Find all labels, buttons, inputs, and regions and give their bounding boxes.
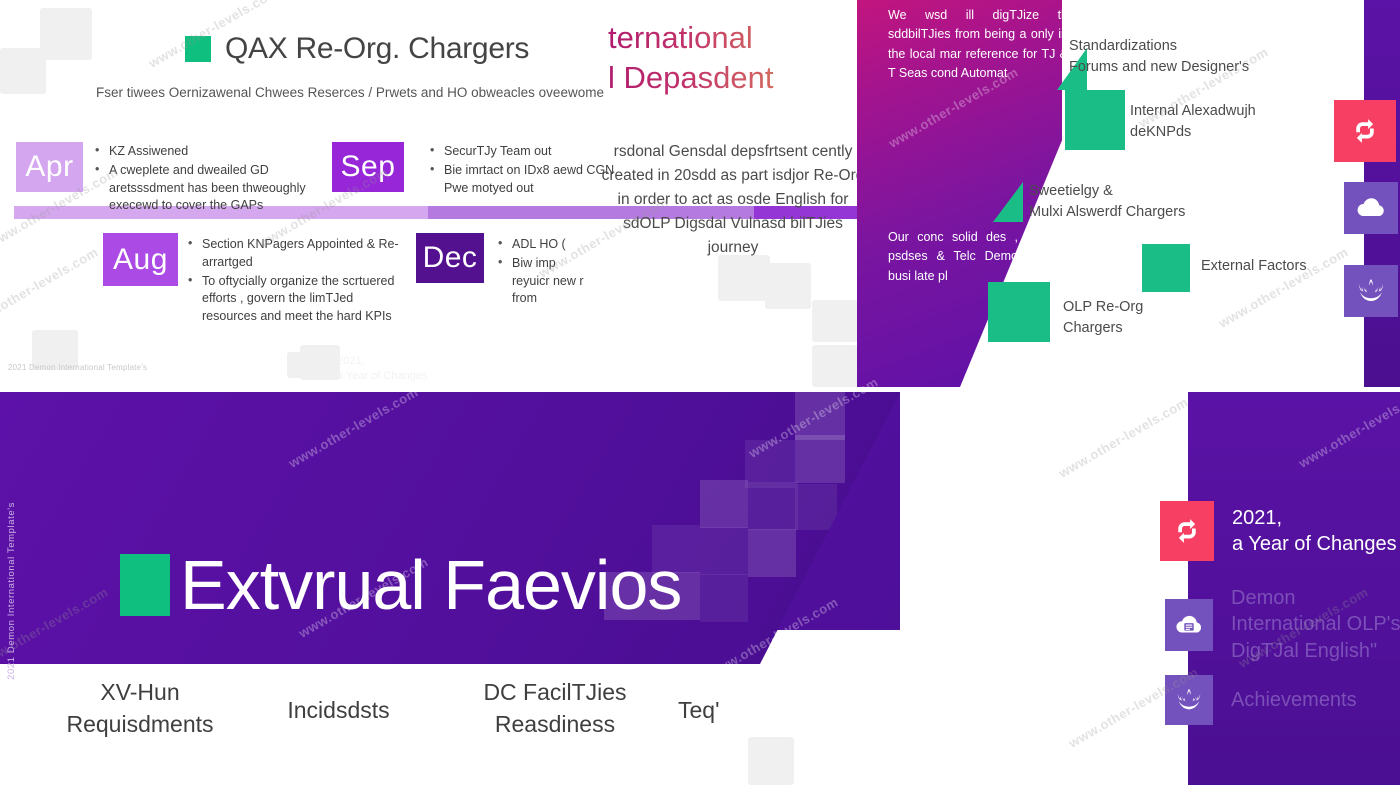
green-item-label-5: OLP Re-Org Chargers [1063,297,1143,339]
label-line: a Year of Changes [1232,531,1397,557]
rail-row-0[interactable]: 2021, a Year of Changes [1160,501,1397,561]
checker-tile [748,482,798,530]
bottom-page-title: Extvrual Faevios [180,550,681,620]
icon-tile-swap[interactable] [1160,501,1214,561]
checker-tile [748,529,796,577]
label-line: Sweetielgy & [1029,181,1185,202]
checker-tile [795,435,845,483]
icon-tile-laurel[interactable] [1165,675,1213,725]
page-subtitle: Fser tiwees Oernizawenal Chwees Reserces… [96,85,604,100]
rail-row-1[interactable]: Demon International OLP's DigTJal Englis… [1165,585,1400,664]
milestone-bullets-dec: ADL HO ( Biw imp reyuicr new r from [498,236,588,309]
label-line: International OLP's [1231,611,1400,637]
top-slide-footer: 2021 Demon International Template's [8,363,147,372]
bottom-tab-2[interactable]: DC FacilTJies Reasdiness [460,677,650,740]
decor-square [812,300,858,342]
milestone-bullets-apr: KZ Assiwened A cweplete and dweailed GD … [95,143,325,216]
decor-square [748,737,794,785]
label-line: Standardizations [1069,36,1249,57]
label-line: Forums and new Designer's [1069,57,1249,78]
milestone-bullets-aug: Section KNPagers Appointed & Re-arrartge… [188,236,410,327]
milestone-box-sep[interactable]: Sep [332,142,404,192]
mid-headline-line-2: l Depasdent [608,58,868,98]
wm-line: 2021, [337,354,428,369]
mid-headline-line-1: ternational [608,18,868,58]
label-line: OLP Re-Org [1063,297,1143,318]
bottom-slide[interactable]: 2021 Demon International Template's Extv… [0,392,1400,785]
milestone-box-aug[interactable]: Aug [103,233,178,286]
list-item: Biw imp reyuicr new r from [498,255,588,308]
icon-tile-cloud-data[interactable] [1165,599,1213,651]
magenta-paragraph-2: Our conc solid des , psdses & Telc Demo … [888,228,1018,286]
checker-tile [795,392,845,440]
list-item: KZ Assiwened [95,143,325,161]
label-line: External Factors [1201,256,1307,277]
rail-row-label-2: Achievements [1231,687,1357,713]
magenta-paragraph-1: We wsd ill digTJize th sddbilTJies from … [888,6,1068,84]
tab-line: Requisdments [55,709,225,741]
bottom-tab-0[interactable]: XV-Hun Requisdments [55,677,225,740]
label-line: DigTJal English" [1231,638,1400,664]
green-item-label-2: Internal Alexadwujh deKNPds [1130,101,1256,143]
tab-line: Reasdiness [460,709,650,741]
label-line: Chargers [1063,318,1143,339]
label-line: Achievements [1231,687,1357,713]
green-square-bullet-icon [120,554,170,616]
mid-headline-group: ternational l Depasdent [608,18,868,97]
label-line: Mulxi Alswerdf Chargers [1029,202,1185,223]
mid-body-text: rsdonal Gensdal depsfrtsent cently creat… [598,140,868,260]
checker-tile [700,480,748,528]
tab-line: Incidsdsts [256,695,421,727]
rail-row-label-0: 2021, a Year of Changes [1232,505,1397,558]
green-item-label-1: Standardizations Forums and new Designer… [1069,36,1249,78]
decor-square [765,263,811,309]
cloud-icon [1354,196,1388,220]
checker-tile [700,574,748,622]
decor-square [40,8,92,60]
list-item: Section KNPagers Appointed & Re-arrartge… [188,236,410,272]
checker-tile [700,527,748,575]
list-item: A cweplete and dweailed GD aretsssdment … [95,162,325,215]
label-line: Internal Alexadwujh [1130,101,1256,122]
wm-line: a Year of Changes [337,369,428,384]
bottom-tab-3[interactable]: Teq' [678,695,778,727]
icon-tile-swap[interactable] [1334,100,1396,162]
slide-preview-stage: QAX Re-Org. Chargers Fser tiwees Oerniza… [0,0,1400,785]
laurel-wreath-icon [1173,686,1205,714]
bottom-tab-1[interactable]: Incidsdsts [256,695,421,727]
decor-square [287,352,313,378]
tab-line: Teq' [678,695,778,727]
checker-tile [795,484,837,530]
decor-square [718,255,770,301]
icon-tile-laurel[interactable] [1344,265,1398,317]
list-item: To oftycially organize the scrtuered eff… [188,273,410,326]
bottom-vertical-label: 2021 Demon International Template's [6,502,17,680]
green-square-5 [988,282,1050,342]
bottom-slide-title-group: Extvrual Faevios [120,550,681,620]
swap-arrows-icon [1172,516,1202,546]
list-item: ADL HO ( [498,236,588,254]
page-title: QAX Re-Org. Chargers [225,32,529,66]
top-slide-title-group: QAX Re-Org. Chargers [185,32,529,66]
icon-tile-cloud[interactable] [1344,182,1398,234]
green-square-bullet-icon [185,36,211,62]
tab-line: DC FacilTJies [460,677,650,709]
swap-arrows-icon [1350,116,1380,146]
green-square-4 [1142,244,1190,292]
label-line: 2021, [1232,505,1397,531]
rail-row-label-1: Demon International OLP's DigTJal Englis… [1231,585,1400,664]
center-watermark-text: 2021, a Year of Changes [337,354,428,384]
milestone-box-dec[interactable]: Dec [416,233,484,283]
tab-line: XV-Hun [55,677,225,709]
green-item-label-4: External Factors [1201,256,1307,277]
green-square-2 [1065,90,1125,150]
decor-square [0,48,46,94]
decor-square [812,345,858,387]
rail-row-2[interactable]: Achievements [1165,675,1357,725]
label-line: Demon [1231,585,1400,611]
cloud-data-icon [1173,613,1205,637]
green-item-label-3: Sweetielgy & Mulxi Alswerdf Chargers [1029,181,1185,223]
milestone-box-apr[interactable]: Apr [16,142,83,192]
checker-tile [745,440,795,488]
label-line: deKNPds [1130,122,1256,143]
top-slide[interactable]: QAX Re-Org. Chargers Fser tiwees Oerniza… [0,0,1400,387]
laurel-wreath-icon [1354,276,1388,306]
